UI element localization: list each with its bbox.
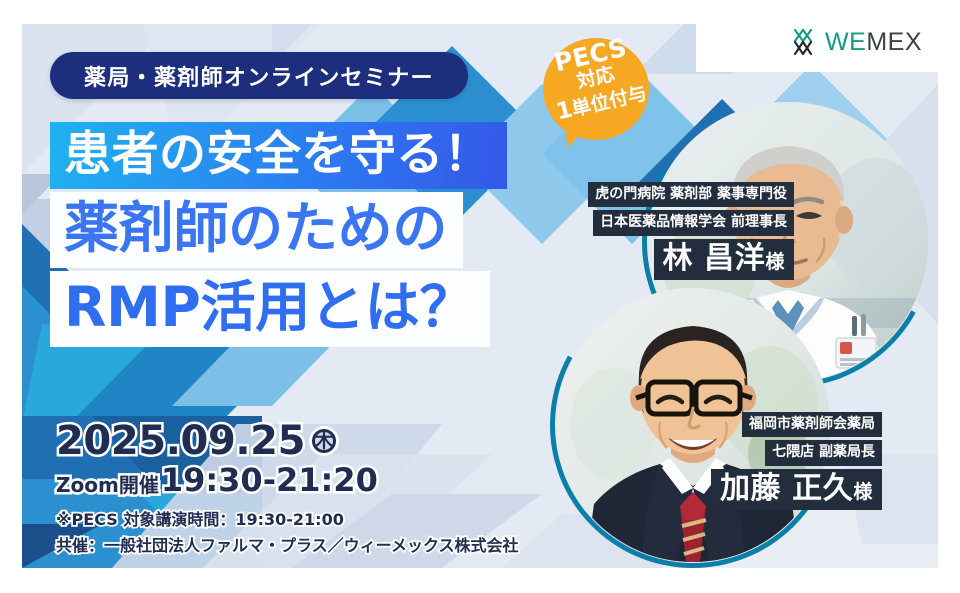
schedule-platform-label: Zoom開催 xyxy=(56,474,159,496)
note-pecs-session-time: ※PECS 対象講演時間：19:30-21:00 xyxy=(56,507,519,533)
wemex-wordmark-mex: MEX xyxy=(866,28,922,56)
speaker-2-name-block: 加藤 正久様 xyxy=(711,469,882,510)
schedule-time: 19:30-21:20 xyxy=(161,464,378,496)
speaker-2-honorific: 様 xyxy=(853,481,873,503)
title-line-2: 薬剤師のための xyxy=(50,192,463,268)
schedule-notes: ※PECS 対象講演時間：19:30-21:00 共催：一般社団法人ファルマ・プ… xyxy=(56,507,519,559)
title-row-3: RMP活用とは？ xyxy=(50,271,507,347)
title-row-1: 患者の安全を守る！ xyxy=(50,122,507,189)
title-row-2: 薬剤師のための xyxy=(50,192,507,268)
speaker-2-name: 加藤 正久 xyxy=(720,471,853,506)
seminar-banner: WEMEX 薬局・薬剤師オンラインセミナー PECS 対応 1単位付与 患者の安… xyxy=(22,24,938,568)
pecs-credit-badge: PECS 対応 1単位付与 xyxy=(537,38,655,150)
seminar-category-label: 薬局・薬剤師オンラインセミナー xyxy=(84,60,434,92)
wemex-wordmark-we: WE xyxy=(825,28,866,56)
speaker-1-name: 林 昌洋 xyxy=(663,241,766,276)
speaker-1-affiliation-2: 日本医薬品情報学会 前理事長 xyxy=(593,210,794,235)
schedule-date-row: 2025.09.25 木 xyxy=(56,420,519,462)
speaker-1-honorific: 様 xyxy=(765,251,785,273)
seminar-category-pill: 薬局・薬剤師オンラインセミナー xyxy=(50,52,468,99)
speaker-1-labels: 虎の門病院 薬剤部 薬事専門役 日本医薬品情報学会 前理事長 林 昌洋様 xyxy=(566,182,794,280)
speaker-1-name-block: 林 昌洋様 xyxy=(654,239,794,280)
title-line-3: RMP活用とは？ xyxy=(50,271,490,347)
speaker-2-affiliation-2: 七隈店 副薬局長 xyxy=(765,440,882,465)
speaker-2-labels: 福岡市薬剤師会薬局 七隈店 副薬局長 加藤 正久様 xyxy=(672,412,882,510)
schedule-block: 2025.09.25 木 Zoom開催 19:30-21:20 ※PECS 対象… xyxy=(56,420,519,559)
speaker-2: 福岡市薬剤師会薬局 七隈店 副薬局長 加藤 正久様 xyxy=(522,282,882,568)
schedule-date: 2025.09.25 xyxy=(56,420,305,462)
schedule-day-of-week: 木 xyxy=(309,426,339,456)
wemex-double-x-mark xyxy=(788,27,818,57)
note-cohost: 共催：一般社団法人ファルマ・プラス／ウィーメックス株式会社 xyxy=(56,533,519,559)
speaker-1-affiliation-1: 虎の門病院 薬剤部 薬事専門役 xyxy=(588,182,794,207)
page-title: 患者の安全を守る！ 薬剤師のための RMP活用とは？ xyxy=(50,122,507,350)
title-line-1: 患者の安全を守る！ xyxy=(50,122,507,189)
wemex-wordmark: WEMEX xyxy=(825,30,922,55)
speaker-2-affiliation-1: 福岡市薬剤師会薬局 xyxy=(742,412,882,437)
wemex-logo: WEMEX xyxy=(788,27,922,57)
schedule-time-row: Zoom開催 19:30-21:20 xyxy=(56,464,519,496)
day-of-week-label: 木 xyxy=(315,432,334,451)
